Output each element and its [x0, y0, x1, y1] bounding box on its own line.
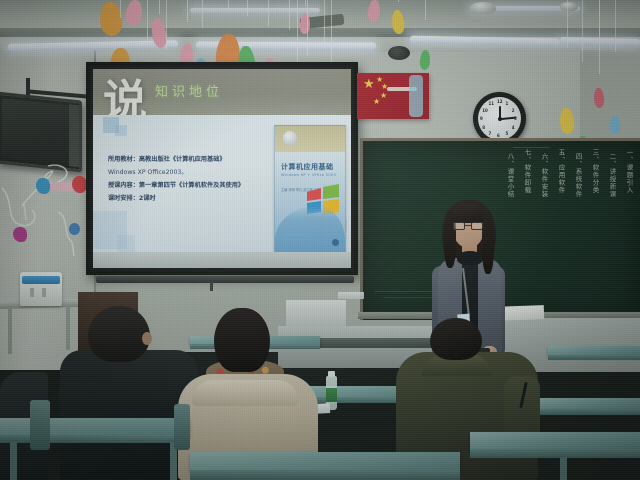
glasses-bridge	[465, 225, 471, 226]
decoration-string	[599, 0, 600, 74]
chalk-dash	[513, 147, 549, 148]
student-seated-left	[58, 306, 198, 480]
decoration-string	[331, 0, 332, 70]
bottle-cap	[328, 371, 335, 377]
decoration-string	[615, 0, 616, 52]
decoration-string	[305, 0, 306, 6]
clock-numeral: 10	[482, 108, 488, 113]
decoration-string	[567, 0, 568, 48]
paper-cutout-decoration	[610, 116, 620, 134]
water-dispenser	[20, 272, 62, 306]
dispenser-tap	[30, 288, 34, 297]
book-subtitle: Windows XP + Office 2003	[281, 173, 341, 177]
teacher-hair-right	[482, 210, 494, 274]
tv-screen	[2, 98, 69, 164]
decoration-string	[307, 0, 308, 56]
decoration-string	[582, 0, 583, 62]
tv-side-panel	[69, 104, 79, 167]
blackboard-column: 二、讲授新课	[606, 153, 617, 198]
ceiling-beam	[0, 28, 640, 37]
book-top-band	[275, 126, 345, 152]
flag-star-small: ★	[380, 92, 387, 100]
chair-back	[174, 404, 190, 450]
glasses-left-lens	[453, 222, 465, 230]
decoration-string	[147, 0, 148, 44]
teacher-turtleneck-collar	[457, 251, 483, 265]
desk-edge	[548, 355, 640, 360]
wall-sticker-blue-small	[69, 223, 80, 235]
screen-pull-hook	[210, 282, 213, 291]
student-head	[214, 308, 270, 372]
classroom-photo: 说 知识地位 所用教材：高教出版社《计算机应用基础》Windows XP Off…	[0, 0, 640, 480]
table-leg	[8, 306, 12, 354]
slide-decoration-square	[115, 125, 127, 136]
flag-star-small: ★	[373, 98, 380, 106]
textbook-cover-image: 计算机应用基础 Windows XP + Office 2003 主编 张明 李…	[274, 125, 346, 253]
dispenser-label-band	[22, 276, 60, 284]
desk-foreground-center	[190, 452, 460, 472]
decoration-string	[187, 0, 188, 22]
student-head	[430, 318, 482, 360]
decoration-string	[166, 0, 167, 50]
clock-numeral: 11	[489, 101, 495, 106]
clock-numeral: 12	[497, 99, 503, 104]
clock-numeral: 4	[512, 125, 515, 130]
bottle-label	[326, 388, 337, 402]
notebook-on-desk	[338, 292, 364, 299]
book-logo-circle	[283, 131, 297, 145]
screen-bottom-bar	[93, 252, 351, 268]
decoration-string	[289, 0, 290, 30]
decoration-string	[324, 0, 325, 44]
clock-numeral: 3	[514, 116, 517, 121]
screen-surface: 说 知识地位 所用教材：高教出版社《计算机应用基础》Windows XP Off…	[93, 69, 351, 268]
book-corner-dot	[332, 239, 339, 246]
flag-star-large: ★	[363, 80, 375, 88]
glasses-right-lens	[471, 222, 483, 230]
decoration-string	[120, 0, 121, 18]
desk-leg	[10, 442, 17, 480]
dispenser-tap	[42, 288, 46, 297]
blackboard-column: 三、软件分类	[589, 149, 600, 194]
student-ear	[142, 332, 152, 345]
clock-face: 121234567891011	[478, 97, 521, 140]
clock-numeral: 7	[489, 131, 492, 136]
chair-back	[30, 400, 50, 450]
teacher-hair-left	[444, 210, 456, 268]
desk-edge	[0, 435, 190, 443]
ceiling-light-dome	[560, 2, 578, 11]
slide-line: 课时安排：2课时	[108, 192, 268, 205]
clock-numeral: 5	[506, 131, 509, 136]
book-title: 计算机应用基础	[281, 162, 341, 172]
decoration-string	[228, 0, 229, 10]
clock-numeral: 1	[506, 101, 509, 106]
blackboard-column: 五、应用软件	[555, 149, 566, 194]
ceiling-speaker-dome	[388, 46, 410, 60]
desk-leg	[560, 457, 567, 480]
wall-sticker-red	[72, 176, 87, 193]
desk-edge	[470, 449, 640, 458]
clock-numeral: 2	[512, 108, 515, 113]
blackboard-column: 六、软件安装	[538, 153, 549, 198]
student-head	[88, 306, 150, 362]
desk-foreground-left	[0, 418, 190, 436]
wall-sticker-blue	[36, 178, 50, 194]
pull-down-projection-screen: 说 知识地位 所用教材：高教出版社《计算机应用基础》Windows XP Off…	[86, 62, 358, 275]
decoration-string	[268, 0, 269, 26]
desk-foreground-right	[470, 432, 640, 450]
slide-subtitle: 知识地位	[155, 81, 223, 100]
clock-center-pin	[498, 117, 502, 121]
decoration-string	[202, 0, 203, 28]
screen-bottom-roller	[96, 276, 354, 283]
wall-sticker-purple	[13, 227, 27, 242]
slide-line: 授课内容：第一章第四节《计算机软件及其使用》	[108, 179, 268, 192]
teacher-glasses	[453, 222, 484, 231]
blackboard-column: 一、课题引入	[623, 149, 634, 194]
decoration-string	[425, 0, 426, 20]
clock-numeral: 9	[480, 116, 483, 121]
fluorescent-tube-light	[190, 8, 320, 13]
ceiling-light-dome	[470, 2, 496, 14]
decoration-string	[398, 0, 399, 2]
teacher-hair-fringe	[450, 204, 487, 223]
blackboard-column: 四、系统软件	[572, 153, 583, 198]
desk-edge	[190, 470, 460, 480]
decoration-over-flag	[409, 75, 423, 117]
decoration-string	[159, 0, 160, 14]
blackboard-column: 七、软件卸载	[521, 149, 532, 194]
decoration-string	[247, 0, 248, 16]
clock-numeral: 8	[482, 125, 485, 130]
coat-hood-fold	[192, 380, 298, 406]
slide-line: Windows XP Office2003。	[108, 166, 268, 179]
slide-text-block: 所用教材：高教出版社《计算机应用基础》Windows XP Office2003…	[108, 153, 268, 205]
blackboard-column: 八、课堂小结	[504, 153, 515, 198]
slide-title-band: 说 知识地位	[93, 69, 351, 115]
slide-line: 所用教材：高教出版社《计算机应用基础》	[108, 153, 268, 166]
desk-edge	[534, 409, 640, 415]
china-flag: ★ ★ ★ ★ ★	[357, 73, 429, 119]
slide-body: 所用教材：高教出版社《计算机应用基础》Windows XP Office2003…	[93, 115, 351, 268]
